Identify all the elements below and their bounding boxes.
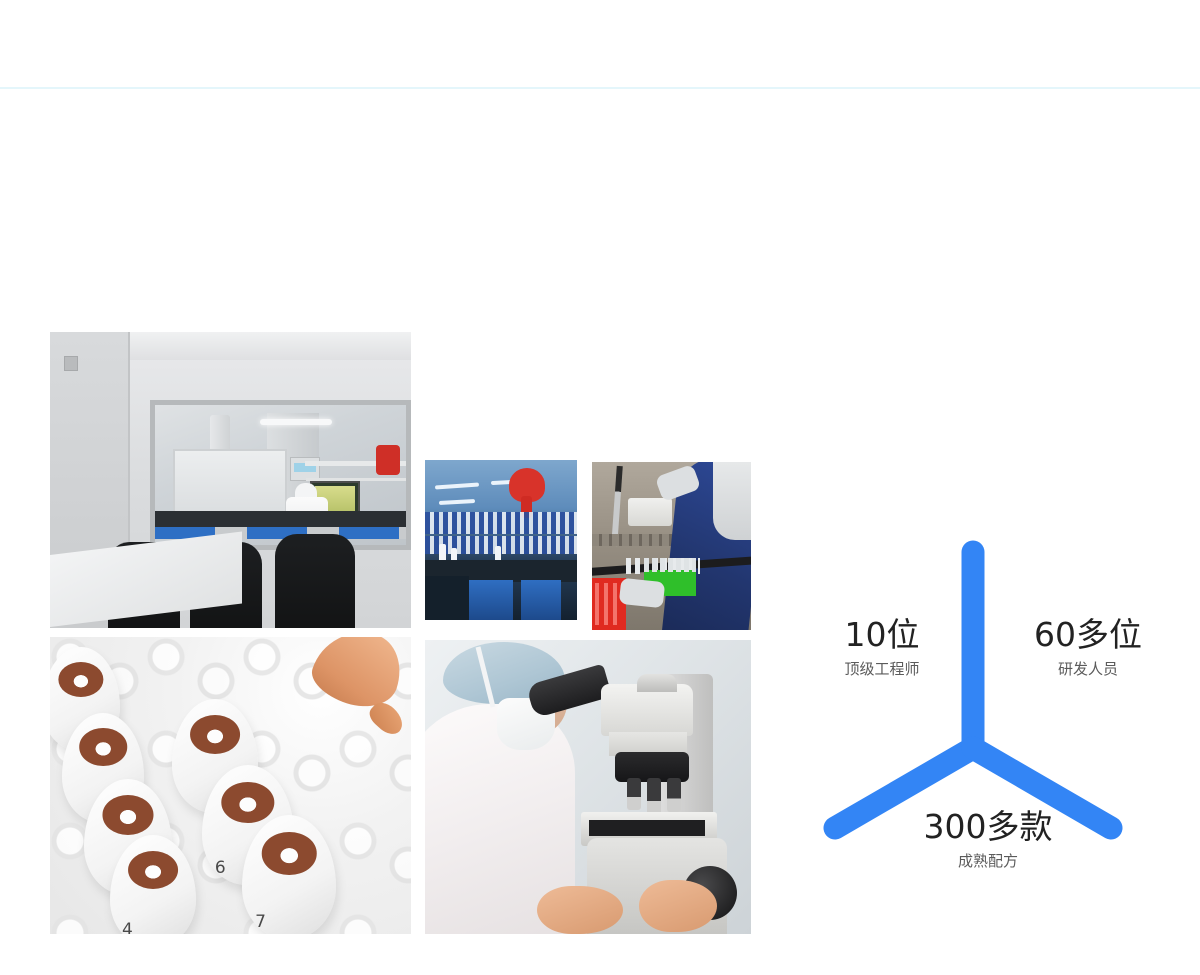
photo-biosafety-scene	[592, 462, 751, 630]
stat-formulas-caption: 成熟配方	[888, 850, 1088, 871]
egg-number: 4	[122, 920, 133, 934]
technician-hand	[639, 880, 717, 932]
egg-number: 6	[215, 858, 226, 878]
technician-hand	[537, 886, 623, 934]
objective-lens	[647, 778, 661, 816]
cabinet-device	[628, 498, 672, 526]
blue-cabinet	[469, 580, 513, 620]
egg-window	[190, 715, 240, 754]
objective-lens	[667, 778, 681, 812]
stat-engineers: 10位 顶级工程师	[812, 618, 952, 679]
ceiling-lamp	[435, 482, 479, 489]
page-root: 4 6 7	[0, 0, 1200, 975]
photo-microscope-scene	[425, 640, 751, 934]
research-facility-photo-grid: 4 6 7	[0, 0, 800, 975]
stat-formulas-value: 300多款	[888, 810, 1088, 845]
rd-capability-y-diagram: 10位 顶级工程师 60多位 研发人员 300多款 成熟配方	[800, 500, 1200, 920]
inner-room	[173, 449, 287, 515]
stat-researchers-caption: 研发人员	[998, 658, 1178, 679]
egg-window	[128, 851, 178, 889]
ceiling-lamp	[260, 419, 332, 425]
technician-hood	[713, 462, 751, 540]
photo-cleanroom-scene	[50, 332, 411, 628]
stat-researchers: 60多位 研发人员	[998, 618, 1178, 679]
office-chair	[275, 534, 355, 628]
egg-window	[58, 662, 103, 697]
egg-number: 7	[255, 912, 266, 932]
observation-window	[150, 400, 411, 550]
stat-researchers-value: 60多位	[998, 618, 1178, 653]
dark-equipment	[425, 576, 469, 620]
photo-embryonated-eggs[interactable]: 4 6 7	[50, 637, 411, 934]
stat-formulas: 300多款 成熟配方	[888, 810, 1088, 871]
photo-eggs-scene: 4 6 7	[50, 637, 411, 934]
red-valve	[376, 445, 400, 475]
slot-rail	[592, 534, 678, 546]
reagent-shelf	[425, 512, 577, 534]
photo-lab-bench[interactable]	[425, 460, 577, 620]
red-overhead-equipment	[509, 468, 545, 502]
egg-window	[262, 832, 317, 874]
gloved-hand	[619, 578, 665, 608]
stat-engineers-caption: 顶级工程师	[812, 658, 952, 679]
photo-microscope[interactable]	[425, 640, 751, 934]
photo-lab-bench-scene	[425, 460, 577, 620]
photo-biosafety-cabinet[interactable]	[592, 462, 751, 630]
egg-window	[221, 782, 274, 823]
blue-cabinet	[521, 580, 561, 620]
lab-bench	[155, 511, 406, 527]
egg-window	[102, 795, 153, 834]
egg-window	[79, 728, 127, 765]
microscope-head	[601, 684, 693, 736]
photo-cleanroom-observation[interactable]	[50, 332, 411, 628]
reagent-shelf	[425, 536, 577, 554]
objective-lens	[627, 778, 641, 810]
stat-engineers-value: 10位	[812, 618, 952, 653]
ceiling-lamp	[439, 499, 475, 505]
